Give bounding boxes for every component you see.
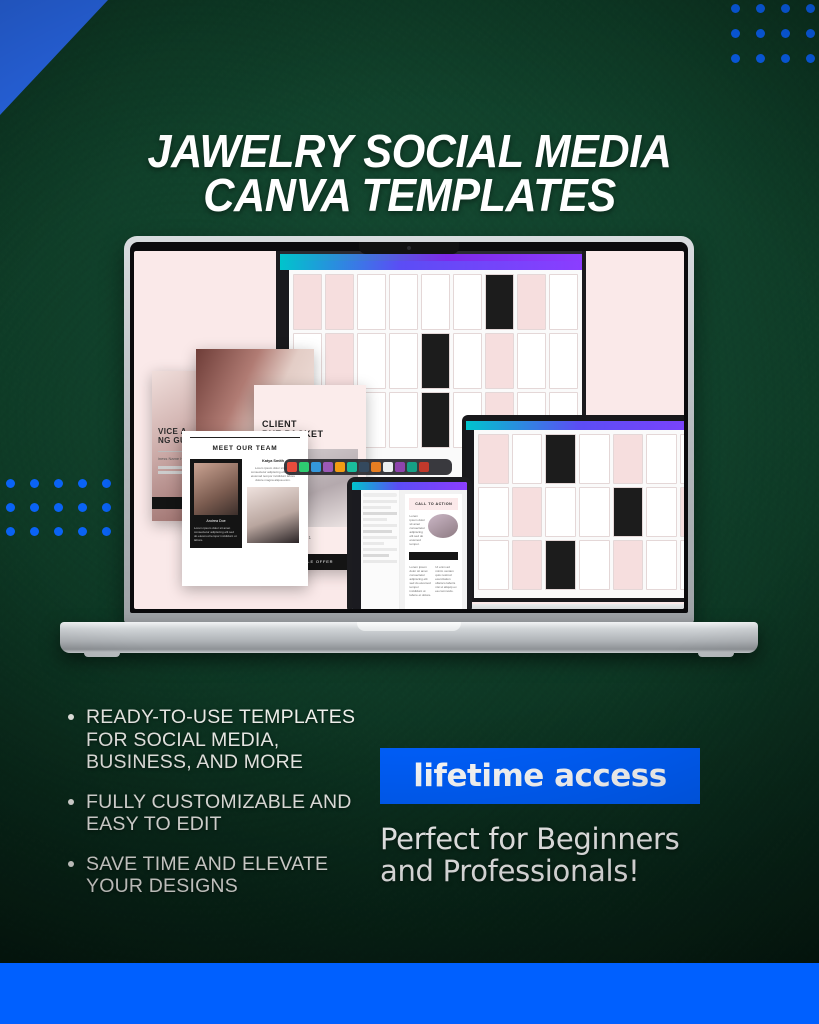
dot	[30, 479, 39, 488]
template-thumb	[613, 434, 644, 484]
dot	[30, 527, 39, 536]
laptop-bezel: VICE A NG GU iness Name H	[130, 242, 688, 613]
dot	[54, 503, 63, 512]
template-thumb	[325, 274, 354, 330]
dot	[102, 503, 111, 512]
template-thumb	[478, 434, 509, 484]
feature-item: FULLY CUSTOMIZABLE AND EASY TO EDIT	[62, 791, 372, 836]
template-thumb	[389, 392, 418, 448]
template-thumb	[485, 274, 514, 330]
template-thumb	[512, 540, 543, 590]
corner-triangle-decoration	[0, 0, 108, 115]
dot	[731, 29, 740, 38]
dot	[781, 54, 790, 63]
template-thumb	[579, 487, 610, 537]
canva-template-gallery	[466, 430, 684, 598]
template-thumb	[357, 274, 386, 330]
template-thumb	[680, 487, 684, 537]
macos-dock	[284, 459, 452, 475]
template-thumb	[357, 333, 386, 389]
canva-layers-panel	[361, 490, 400, 609]
dot	[102, 479, 111, 488]
secondary-laptop-base	[452, 604, 684, 609]
dot	[54, 527, 63, 536]
laptop-notch	[359, 242, 459, 254]
secondary-laptop-mockup	[462, 415, 684, 609]
tablet-frame: CALL TO ACTION Lorem ipsum dolor sit ame…	[347, 477, 472, 609]
dot	[806, 54, 815, 63]
dot	[781, 29, 790, 38]
template-thumbnail-grid	[474, 430, 684, 594]
dock-app-icon[interactable]	[407, 462, 417, 472]
tablet-mockup: CALL TO ACTION Lorem ipsum dolor sit ame…	[347, 477, 472, 609]
template-thumb	[680, 540, 684, 590]
secondary-laptop-screen	[466, 421, 684, 598]
dock-app-icon[interactable]	[347, 462, 357, 472]
dot	[756, 54, 765, 63]
dot	[806, 29, 815, 38]
template-thumb	[421, 274, 450, 330]
dot	[806, 4, 815, 13]
template-thumb	[512, 487, 543, 537]
dot	[781, 4, 790, 13]
feature-list: READY-TO-USE TEMPLATES FOR SOCIAL MEDIA,…	[62, 706, 372, 915]
canva-header-bar	[466, 421, 684, 430]
template-thumb	[549, 274, 578, 330]
template-thumb	[421, 392, 450, 448]
template-thumb	[517, 274, 546, 330]
template-thumb	[545, 434, 576, 484]
dot	[731, 54, 740, 63]
template-card-meet-our-team: MEET OUR TEAM Andrea Doe Lorem ipsum dol…	[182, 431, 308, 586]
dot	[78, 479, 87, 488]
template-thumb	[517, 333, 546, 389]
lifetime-access-badge: lifetime access	[380, 748, 700, 804]
dot	[54, 479, 63, 488]
template-thumb	[421, 333, 450, 389]
canva-side-rail	[352, 490, 361, 609]
title-line-2: CANVA TEMPLATES	[25, 173, 795, 217]
dock-app-icon[interactable]	[311, 462, 321, 472]
dock-app-icon[interactable]	[419, 462, 429, 472]
dock-app-icon[interactable]	[323, 462, 333, 472]
dot	[78, 527, 87, 536]
dock-app-icon[interactable]	[383, 462, 393, 472]
dock-app-icon[interactable]	[395, 462, 405, 472]
dot	[756, 29, 765, 38]
dock-app-icon[interactable]	[287, 462, 297, 472]
laptop-foot	[84, 652, 120, 657]
template-thumb	[325, 333, 354, 389]
template-thumb	[453, 274, 482, 330]
dock-app-icon[interactable]	[371, 462, 381, 472]
canva-canvas-area: CALL TO ACTION Lorem ipsum dolor sit ame…	[400, 490, 467, 609]
poster-canvas: JAWELRY SOCIAL MEDIA CANVA TEMPLATES	[0, 0, 819, 1024]
dot	[731, 4, 740, 13]
feature-item: READY-TO-USE TEMPLATES FOR SOCIAL MEDIA,…	[62, 706, 372, 774]
tablet-screen: CALL TO ACTION Lorem ipsum dolor sit ame…	[352, 482, 467, 609]
canva-header-bar	[352, 482, 467, 490]
template-thumb	[293, 274, 322, 330]
template-thumb	[646, 434, 677, 484]
dot-grid-top-right	[731, 4, 819, 79]
laptop-foot	[698, 652, 734, 657]
tagline-text: Perfect for Beginners and Professionals!	[380, 823, 730, 887]
lifetime-access-label: lifetime access	[413, 758, 666, 794]
template-thumb	[485, 333, 514, 389]
template-thumb	[512, 434, 543, 484]
canva-toolbar	[280, 261, 582, 270]
template-thumb	[613, 540, 644, 590]
canva-header-bar	[280, 254, 582, 261]
dot	[756, 4, 765, 13]
secondary-laptop-frame	[462, 415, 684, 602]
template-thumb	[646, 487, 677, 537]
bottom-accent-bar	[0, 963, 819, 1024]
template-thumb	[549, 333, 578, 389]
laptop-base-notch	[357, 622, 461, 631]
template-thumb	[545, 487, 576, 537]
template-thumb	[478, 487, 509, 537]
dock-app-icon[interactable]	[359, 462, 369, 472]
dot	[102, 527, 111, 536]
laptop-lid: VICE A NG GU iness Name H	[124, 236, 694, 623]
template-thumb	[478, 540, 509, 590]
laptop-mockup: VICE A NG GU iness Name H	[124, 236, 694, 623]
dot	[78, 503, 87, 512]
laptop-screen: VICE A NG GU iness Name H	[134, 251, 684, 609]
dot	[6, 527, 15, 536]
template-thumb	[545, 540, 576, 590]
dot	[30, 503, 39, 512]
poster-title: JAWELRY SOCIAL MEDIA CANVA TEMPLATES	[25, 129, 795, 217]
template-thumb	[389, 274, 418, 330]
laptop-base	[60, 622, 758, 653]
feature-item: SAVE TIME AND ELEVATE YOUR DESIGNS	[62, 853, 372, 898]
dot-grid-left	[6, 479, 126, 551]
template-thumb	[680, 434, 684, 484]
template-thumb	[389, 333, 418, 389]
template-thumb	[613, 487, 644, 537]
template-thumb	[579, 434, 610, 484]
template-thumb	[453, 333, 482, 389]
template-thumb	[646, 540, 677, 590]
dock-app-icon[interactable]	[299, 462, 309, 472]
dot	[6, 503, 15, 512]
template-thumb	[579, 540, 610, 590]
camera-icon	[407, 246, 411, 250]
dock-app-icon[interactable]	[335, 462, 345, 472]
dot	[6, 479, 15, 488]
